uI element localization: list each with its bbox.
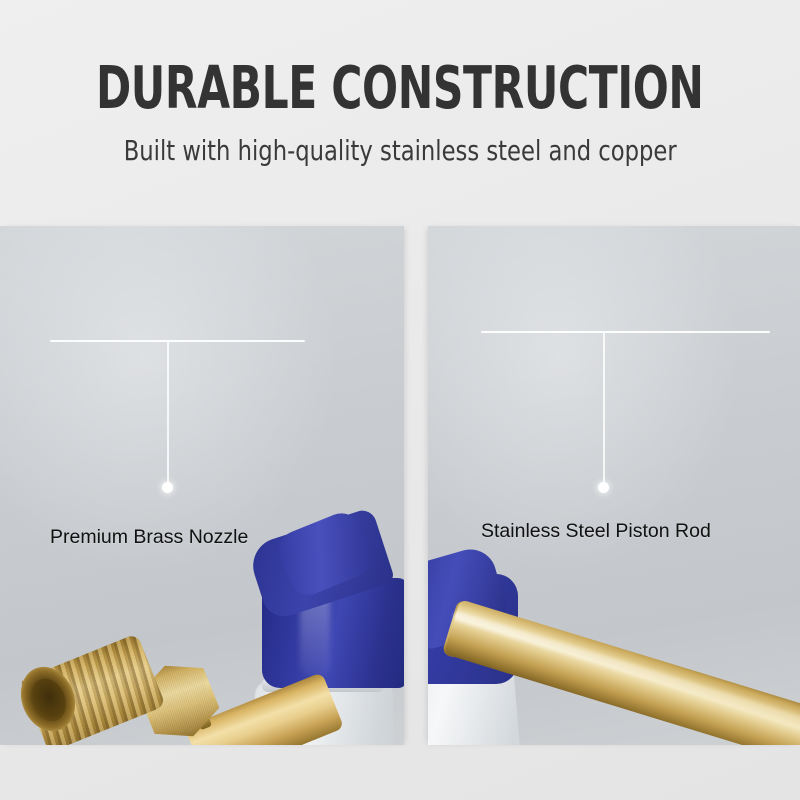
product-infographic: DURABLE CONSTRUCTION Built with high-qua… bbox=[0, 0, 800, 800]
callout-label-piston-rod: Stainless Steel Piston Rod bbox=[481, 520, 711, 543]
page-subtitle: Built with high-quality stainless steel … bbox=[124, 137, 677, 165]
panel-piston-rod-photo: Stainless Steel Piston Rod bbox=[428, 226, 800, 745]
callout-underline-piston-rod bbox=[481, 331, 770, 333]
callout-dot-brass-nozzle bbox=[162, 482, 173, 493]
callout-dot-piston-rod bbox=[598, 482, 609, 493]
callout-leader-brass-nozzle bbox=[167, 340, 169, 487]
callout-underline-brass-nozzle bbox=[50, 340, 305, 342]
panel-brass-nozzle-photo: Premium Brass Nozzle bbox=[0, 226, 404, 745]
callout-label-brass-nozzle: Premium Brass Nozzle bbox=[50, 526, 248, 549]
callout-leader-piston-rod bbox=[603, 331, 605, 487]
header: DURABLE CONSTRUCTION Built with high-qua… bbox=[0, 0, 800, 226]
page-title: DURABLE CONSTRUCTION bbox=[96, 58, 704, 117]
